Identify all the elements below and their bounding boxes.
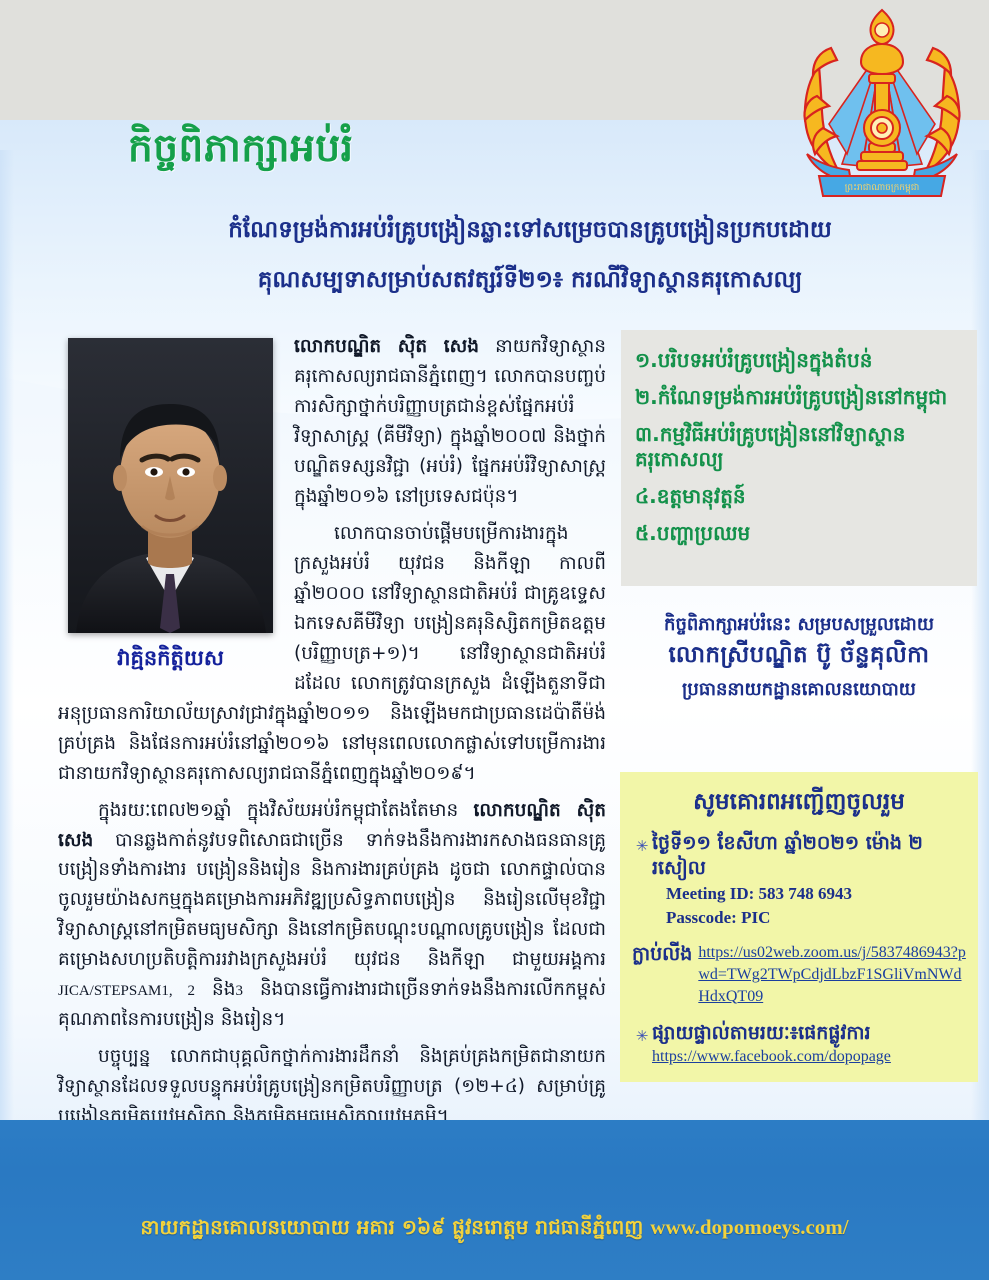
- agenda-list: ១.បរិបទអប់រំគ្រូបង្រៀនក្នុងតំបន់ ២.កំណែទ…: [635, 348, 967, 546]
- join-datetime-row: ✳ ថ្ងៃទី១១ ខែសីហា ឆ្នាំ២០២១ ម៉ោង ២ រសៀល …: [632, 831, 966, 928]
- zoom-link-label: ក្លាប់លីង: [632, 942, 698, 970]
- footer-website[interactable]: www.dopomoeys.com/: [650, 1215, 848, 1239]
- agenda-panel: ១.បរិបទអប់រំគ្រូបង្រៀនក្នុងតំបន់ ២.កំណែទ…: [621, 330, 977, 586]
- facebook-row: ✳ ផ្សាយផ្ទាល់តាមរយៈ៖ផេកផ្លូវការ https://…: [632, 1021, 966, 1066]
- asterisk-bullet-icon-2: ✳: [632, 1021, 652, 1045]
- join-invitation-title: សូមគោរពអញ្ជើញចូលរួម: [632, 788, 966, 821]
- moderator-intro: កិច្ចពិភាក្សាអប់រំនេះ សម្របសម្រួលដោយ: [621, 612, 977, 637]
- speaker-portrait-image: [68, 338, 273, 633]
- bio-p3-mid: និង: [195, 979, 235, 1000]
- moderator-name: លោកស្រីបណ្ឌិត ប៊ូ ច័ន្ទគុលិកា: [621, 641, 977, 674]
- meeting-datetime: ថ្ងៃទី១១ ខែសីហា ឆ្នាំ២០២១ ម៉ោង ២ រសៀល: [652, 831, 966, 880]
- moeys-emblem-icon: ព្រះរាជាណាចក្រកម្ពុជា: [789, 4, 975, 202]
- moderator-block: កិច្ចពិភាក្សាអប់រំនេះ សម្របសម្រួលដោយ លោក…: [621, 612, 977, 704]
- bio-p3-pre: ក្នុងរយៈពេល២១ឆ្នាំ ក្នុងវិស័យអប់រំកម្ពុជ…: [98, 800, 474, 821]
- bio-p1-rest: នាយកវិទ្យាស្ថានគរុកោសល្យរាជធានីភ្នំពេញ។ …: [294, 336, 606, 507]
- page-title: កិច្ចពិភាក្សាអប់រំ: [128, 124, 353, 181]
- agenda-item: ៤.ឧត្តមានុវត្តន៍: [635, 484, 967, 509]
- emblem-ribbon-label: ព្រះរាជាណាចក្រកម្ពុជា: [845, 183, 920, 194]
- speaker-photo: [68, 338, 273, 633]
- speaker-name-bold: លោកបណ្ឌិត ស៊ិត សេង: [294, 336, 479, 357]
- footer-address: នាយកដ្ឋានគោលនយោបាយ អគារ ១៦៩ ផ្លូវនរោត្តម…: [140, 1215, 650, 1239]
- meeting-id: Meeting ID: 583 748 6943: [652, 884, 966, 904]
- speaker-photo-caption: វាគ្មិនកិត្តិយស: [68, 645, 273, 676]
- subtitle-line-2: គុណសម្បទាសម្រាប់សតវត្សរ៍ទី២១៖ ករណីវិទ្យា…: [180, 260, 880, 300]
- bio-paragraph-3: ក្នុងរយៈពេល២១ឆ្នាំ ក្នុងវិស័យអប់រំកម្ពុជ…: [58, 796, 606, 1036]
- meeting-passcode: Passcode: PIC: [652, 908, 966, 928]
- agenda-item: ១.បរិបទអប់រំគ្រូបង្រៀនក្នុងតំបន់: [635, 348, 967, 373]
- facebook-page-link[interactable]: https://www.facebook.com/dopopage: [652, 1048, 891, 1065]
- bio-paragraph-4: បច្ចុប្បន្ន លោកជាបុគ្គលិកថ្នាក់ការងារដឹក…: [58, 1042, 606, 1132]
- project-name-jica: JICA/STEPSAM1, 2: [58, 983, 195, 999]
- zoom-meeting-link[interactable]: https://us02web.zoom.us/j/5837486943?pwd…: [698, 942, 966, 1007]
- poster-canvas: ព្រះរាជាណាចក្រកម្ពុជា កិច្ចពិភាក្សាអប់រំ…: [0, 0, 989, 1280]
- agenda-item: ៥.បញ្ហាប្រឈម: [635, 521, 967, 546]
- zoom-link-row: ក្លាប់លីង https://us02web.zoom.us/j/5837…: [632, 942, 966, 1007]
- facebook-live-label: ផ្សាយផ្ទាល់តាមរយៈ៖ផេកផ្លូវការ: [652, 1021, 966, 1046]
- asterisk-bullet-icon: ✳: [632, 831, 652, 855]
- bio-p3-rest: បានឆ្លងកាត់នូវបទពិសោធជាច្រើន ទាក់ទងនឹងកា…: [58, 830, 606, 971]
- footer-blue-wave: [0, 1120, 989, 1280]
- moderator-role: ប្រធាននាយកដ្ឋានគោលនយោបាយ: [621, 677, 977, 704]
- join-info-panel: សូមគោរពអញ្ជើញចូលរួម ✳ ថ្ងៃទី១១ ខែសីហា ឆ្…: [620, 772, 978, 1082]
- left-edge-gradient: [0, 150, 14, 1160]
- footer-band: [0, 1120, 989, 1280]
- footer-contact: នាយកដ្ឋានគោលនយោបាយ អគារ ១៦៩ ផ្លូវនរោត្តម…: [0, 1214, 989, 1244]
- project-name-jica-3: 3: [235, 983, 243, 999]
- agenda-item: ៣.កម្មវិធីអប់រំគ្រូបង្រៀននៅវិទ្យាស្ថានគរ…: [635, 422, 967, 472]
- agenda-item: ២.កំណែទម្រង់ការអប់រំគ្រូបង្រៀននៅកម្ពុជា: [635, 385, 967, 410]
- subtitle-line-1: កំណែទម្រង់ការអប់រំគ្រូបង្រៀនឆ្លាះទៅសម្រេ…: [228, 217, 832, 243]
- subtitle: កំណែទម្រង់ការអប់រំគ្រូបង្រៀនឆ្លាះទៅសម្រេ…: [180, 210, 880, 301]
